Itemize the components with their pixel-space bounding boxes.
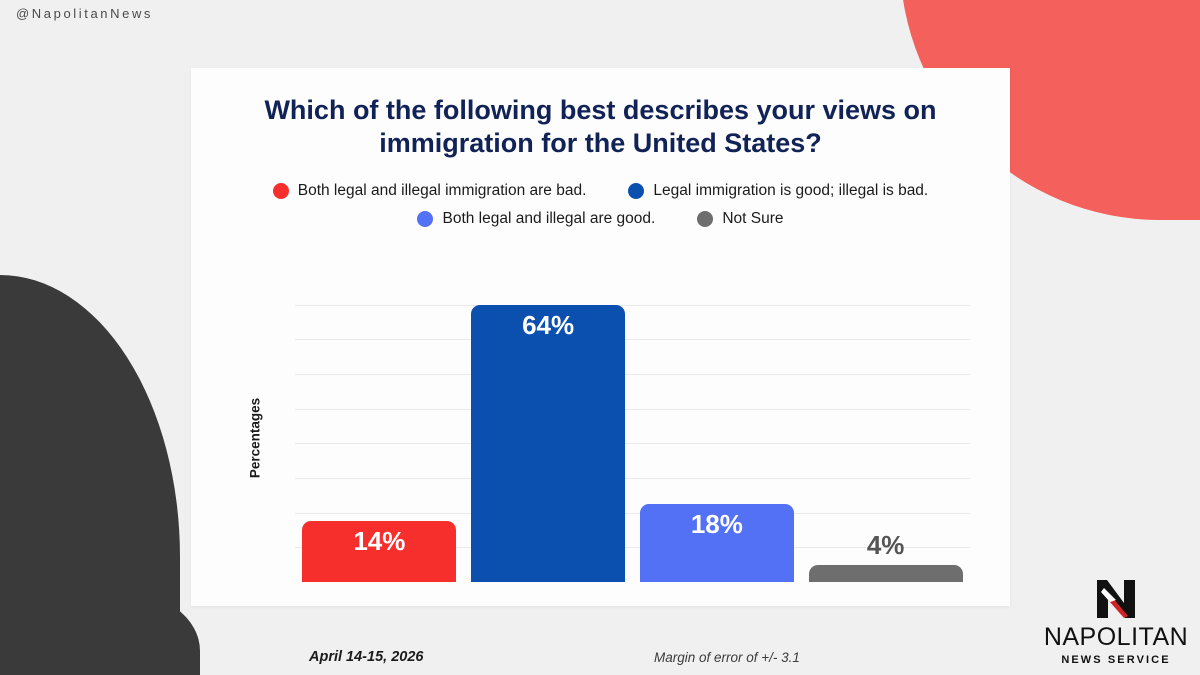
legend-item-label: Legal immigration is good; illegal is ba… [653, 182, 928, 200]
legend-row: Both legal and illegal are good. Not Sur… [191, 210, 1010, 228]
bar-value-label: 64% [522, 311, 574, 582]
chart-title: Which of the following best describes yo… [239, 94, 962, 160]
legend-row: Both legal and illegal immigration are b… [191, 182, 1010, 200]
dark-blob-foot [0, 591, 200, 675]
watermark-handle: @NapolitanNews [16, 6, 153, 21]
bar[interactable]: 18% [640, 504, 794, 582]
bar-series: 14%64%18%4% [295, 270, 970, 582]
logo-subtitle: NEWS SERVICE [1040, 654, 1192, 666]
bar-plot: 14%64%18%4% [295, 270, 970, 582]
bar-slot: 18% [633, 270, 802, 582]
plot-area: Percentages 14%64%18%4% [191, 270, 1010, 606]
bar-slot: 4% [801, 270, 970, 582]
napolitan-n-icon [1094, 578, 1138, 620]
bar-value-label: 18% [691, 510, 743, 582]
chart-card: Which of the following best describes yo… [191, 68, 1010, 606]
bar-value-label: 14% [353, 527, 405, 582]
poll-graphic: @NapolitanNews Which of the following be… [0, 0, 1200, 675]
legend-item[interactable]: Not Sure [697, 210, 783, 228]
legend-item[interactable]: Legal immigration is good; illegal is ba… [628, 182, 928, 200]
legend-dot-icon [417, 211, 433, 227]
legend-item-label: Not Sure [722, 210, 783, 228]
legend-item-label: Both legal and illegal immigration are b… [298, 182, 587, 200]
logo-wordmark: NAPOLITAN [1040, 625, 1192, 650]
bar-slot: 14% [295, 270, 464, 582]
margin-of-error: Margin of error of +/- 3.1 [654, 650, 800, 665]
legend-dot-icon [697, 211, 713, 227]
legend-dot-icon [628, 183, 644, 199]
poll-date: April 14-15, 2026 [309, 649, 423, 665]
y-axis-label: Percentages [248, 398, 263, 478]
brand-logo: NAPOLITAN NEWS SERVICE [1040, 578, 1192, 666]
legend-item-label: Both legal and illegal are good. [442, 210, 655, 228]
chart-legend: Both legal and illegal immigration are b… [191, 182, 1010, 228]
legend-item[interactable]: Both legal and illegal immigration are b… [273, 182, 587, 200]
bar-slot: 64% [464, 270, 633, 582]
bar[interactable]: 4% [809, 565, 963, 582]
bar[interactable]: 64% [471, 305, 625, 582]
bar[interactable]: 14% [302, 521, 456, 582]
legend-dot-icon [273, 183, 289, 199]
legend-item[interactable]: Both legal and illegal are good. [417, 210, 655, 228]
bar-value-label: 4% [867, 531, 905, 560]
